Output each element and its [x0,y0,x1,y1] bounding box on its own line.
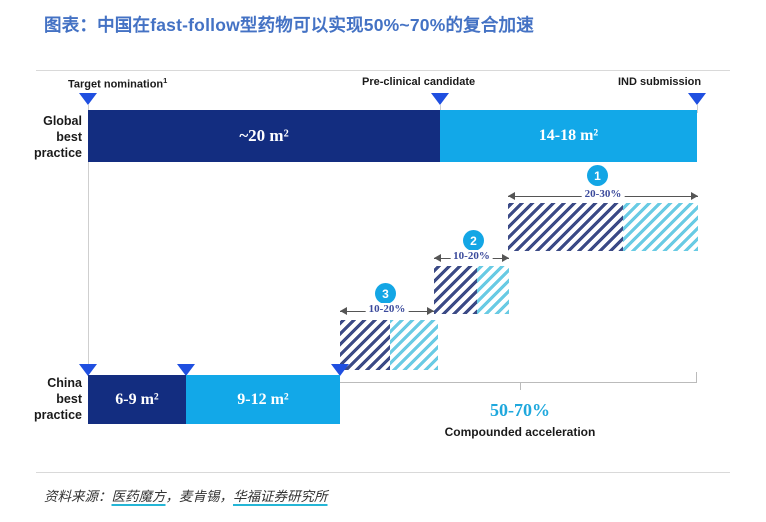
row-label-line: China [2,375,82,391]
step-badge-number: 3 [382,287,389,301]
arrowhead-right-icon [691,192,698,200]
milestone-label-pre-clinical-candidate: Pre-clinical candidate [362,76,475,88]
page-title: 图表：中国在fast-follow型药物可以实现50%~70%的复合加速 [44,12,744,37]
arrowhead-left-icon [340,307,347,315]
step-badge-number: 2 [470,234,477,248]
bar-value-label: 14-18 m² [539,127,598,145]
chart-canvas: 图表：中国在fast-follow型药物可以实现50%~70%的复合加速 Tar… [0,0,766,522]
milestone-label-text: IND submission [618,76,701,88]
summary-percent: 50-70% [420,400,620,421]
milestone-label-target-nomination: Target nomination1 [68,76,167,91]
row-label-line: practice [2,145,82,161]
bar-china-phase2: 9-12 m² [186,375,340,424]
step1-hatched-navy-block [508,203,623,251]
step2-hatched-navy-block [434,266,477,314]
step-badge-2: 2 [463,230,484,251]
footnote-marker: 1 [163,76,167,85]
milestone-marker-triangle-target-top [79,93,97,105]
arrowhead-right-icon [427,307,434,315]
summary-bracket-tick-center [520,382,521,390]
bar-global-phase1: ~20 m² [88,110,440,162]
milestone-label-ind-submission: IND submission [618,76,701,88]
summary-caption: Compounded acceleration [420,425,620,439]
row-label-line: Global [2,113,82,129]
measure-arrow-step-3: 10-20% [340,305,434,319]
guide-line-ind [697,105,698,113]
bar-value-label: 6-9 m² [115,391,158,409]
milestone-marker-triangle-preclinical-top [431,93,449,105]
measure-percent-label: 10-20% [366,303,409,315]
row-label-line: best [2,391,82,407]
milestone-label-text: Target nomination [68,79,163,91]
source-link-1[interactable]: 医药魔方 [112,489,166,504]
divider-top [36,70,730,71]
measure-percent-label: 20-30% [582,188,625,200]
step-badge-1: 1 [587,165,608,186]
measure-arrow-step-2: 10-20% [434,252,509,266]
measure-percent-label: 10-20% [450,250,493,262]
bar-value-label: 9-12 m² [237,391,288,409]
bar-value-label: ~20 m² [239,126,288,146]
step-badge-3: 3 [375,283,396,304]
bar-global-phase2: 14-18 m² [440,110,697,162]
bar-china-phase1: 6-9 m² [88,375,186,424]
row-label-global-best-practice: Global best practice [2,113,82,161]
step3-hatched-navy-block [340,320,390,370]
step3-hatched-cyan-block [390,320,438,370]
row-label-china-best-practice: China best practice [2,375,82,423]
source-separator: ， [220,489,234,504]
arrowhead-left-icon [434,254,441,262]
summary-bracket-tick-right [696,372,697,383]
step2-hatched-cyan-block [477,266,509,314]
measure-arrow-step-1: 20-30% [508,190,698,204]
row-label-line: best [2,129,82,145]
milestone-label-text: Pre-clinical candidate [362,76,475,88]
source-link-2[interactable]: 麦肯锡 [179,489,220,504]
arrowhead-right-icon [502,254,509,262]
step1-hatched-cyan-block [623,203,698,251]
source-prefix: 资料来源： [44,489,112,504]
arrowhead-left-icon [508,192,515,200]
source-separator: ， [166,489,180,504]
milestone-marker-triangle-ind-top [688,93,706,105]
source-footer: 资料来源：医药魔方，麦肯锡，华福证券研究所 [44,485,328,505]
summary-bracket-line [340,382,697,383]
row-label-line: practice [2,407,82,423]
divider-bottom [36,472,730,473]
step-badge-number: 1 [594,169,601,183]
source-link-3[interactable]: 华福证券研究所 [233,489,328,504]
